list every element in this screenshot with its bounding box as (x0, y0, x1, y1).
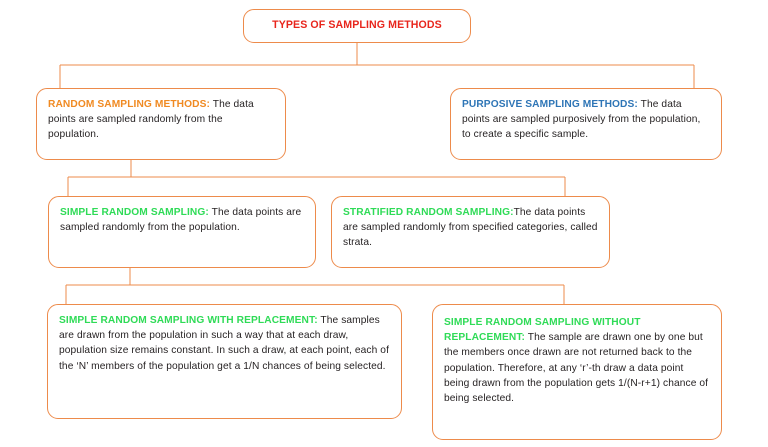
node-types-of-sampling-methods[interactable]: TYPES OF SAMPLING METHODS (243, 9, 471, 43)
node-simple-random-sampling-with-replacement[interactable]: SIMPLE RANDOM SAMPLING WITH REPLACEMENT:… (47, 304, 402, 419)
with-replacement-heading: SIMPLE RANDOM SAMPLING WITH REPLACEMENT: (59, 315, 318, 326)
purposive-heading: PURPOSIVE SAMPLING METHODS: (462, 99, 638, 110)
with-replacement-text: SIMPLE RANDOM SAMPLING WITH REPLACEMENT:… (59, 313, 390, 374)
simple-random-text: SIMPLE RANDOM SAMPLING: The data points … (60, 205, 304, 235)
node-stratified-random-sampling[interactable]: STRATIFIED RANDOM SAMPLING:The data poin… (331, 196, 610, 268)
diagram-canvas: TYPES OF SAMPLING METHODS RANDOM SAMPLIN… (0, 0, 768, 447)
random-text: RANDOM SAMPLING METHODS: The data points… (48, 97, 274, 143)
node-random-sampling-methods[interactable]: RANDOM SAMPLING METHODS: The data points… (36, 88, 286, 160)
purposive-text: PURPOSIVE SAMPLING METHODS: The data poi… (462, 97, 710, 143)
node-simple-random-sampling[interactable]: SIMPLE RANDOM SAMPLING: The data points … (48, 196, 316, 268)
without-replacement-text: SIMPLE RANDOM SAMPLING WITHOUT REPLACEME… (444, 315, 710, 406)
stratified-text: STRATIFIED RANDOM SAMPLING:The data poin… (343, 205, 598, 251)
node-simple-random-sampling-without-replacement[interactable]: SIMPLE RANDOM SAMPLING WITHOUT REPLACEME… (432, 304, 722, 440)
random-heading: RANDOM SAMPLING METHODS: (48, 99, 210, 110)
stratified-heading: STRATIFIED RANDOM SAMPLING: (343, 207, 514, 218)
title-text: TYPES OF SAMPLING METHODS (272, 18, 442, 33)
node-title-heading: TYPES OF SAMPLING METHODS (272, 19, 442, 31)
node-purposive-sampling-methods[interactable]: PURPOSIVE SAMPLING METHODS: The data poi… (450, 88, 722, 160)
simple-random-heading: SIMPLE RANDOM SAMPLING: (60, 207, 209, 218)
